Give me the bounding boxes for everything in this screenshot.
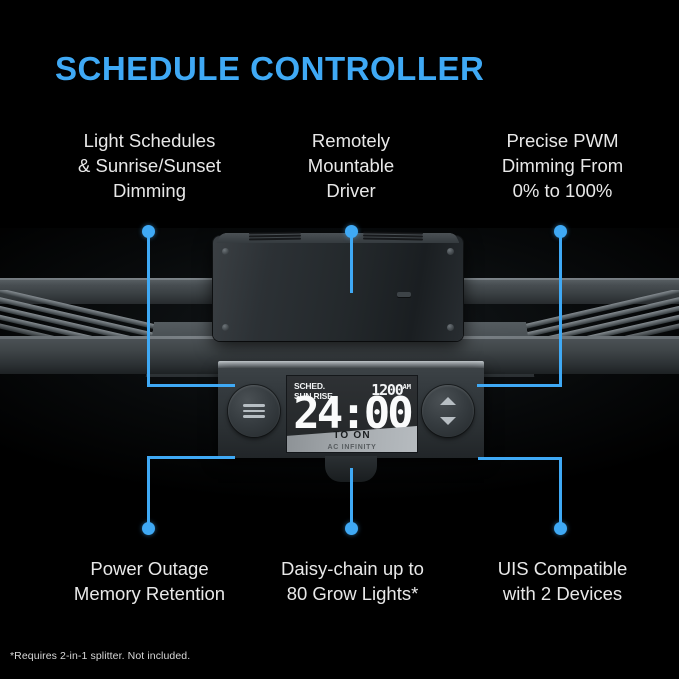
lcd-brand-label: AC INFINITY [287,444,417,451]
chevron-up-icon[interactable] [440,397,456,405]
caption-line: UIS Compatible [460,556,665,581]
callout-line-h [477,384,562,387]
caption-line: Dimming [22,178,277,203]
caption-line: Memory Retention [22,581,277,606]
caption-line: Power Outage [22,556,277,581]
controller-faceplate: SCHED. SUN RISE 1200AM 24:00 TO ON AC IN… [218,368,484,458]
feature-caption-uis-compatible: UIS Compatible with 2 Devices [460,556,665,606]
screw-icon [447,324,454,331]
callout-line-v [147,231,150,387]
callout-line-h [147,384,235,387]
product-photo: SCHED. SUN RISE 1200AM 24:00 TO ON AC IN… [0,228,679,518]
caption-line: Driver [262,178,440,203]
lcd-display: SCHED. SUN RISE 1200AM 24:00 TO ON AC IN… [286,375,418,453]
page-title: SCHEDULE CONTROLLER [55,50,484,88]
menu-icon [243,404,265,418]
feature-caption-pwm-dimming: Precise PWM Dimming From 0% to 100% [455,128,670,203]
remote-driver-box [213,236,463,341]
caption-line: Dimming From [455,153,670,178]
caption-line: Daisy-chain up to [255,556,450,581]
footnote: *Requires 2-in-1 splitter. Not included. [10,650,190,662]
callout-line-h [147,456,235,459]
caption-line: Remotely [262,128,440,153]
screw-icon [222,324,229,331]
callout-line-v [350,468,353,528]
product-feature-graphic: SCHEDULE CONTROLLER [0,0,679,679]
screw-icon [447,248,454,255]
feature-caption-memory-retention: Power Outage Memory Retention [22,556,277,606]
lcd-state-label: TO ON [287,430,417,441]
callout-line-h [478,457,562,460]
callout-line-v [147,456,150,528]
caption-line: with 2 Devices [460,581,665,606]
caption-line: Precise PWM [455,128,670,153]
feature-caption-light-schedules: Light Schedules & Sunrise/Sunset Dimming [22,128,277,203]
up-down-button[interactable] [422,385,474,437]
callout-line-v [559,457,562,528]
chevron-down-icon[interactable] [440,417,456,425]
caption-line: 0% to 100% [455,178,670,203]
caption-line: Mountable [262,153,440,178]
caption-line: 80 Grow Lights* [255,581,450,606]
caption-line: & Sunrise/Sunset [22,153,277,178]
caption-line: Light Schedules [22,128,277,153]
screw-icon [222,248,229,255]
callout-line-v [350,231,353,293]
menu-button[interactable] [228,385,280,437]
feature-caption-daisy-chain: Daisy-chain up to 80 Grow Lights* [255,556,450,606]
callout-line-v [559,231,562,387]
feature-caption-remote-driver: Remotely Mountable Driver [262,128,440,203]
driver-port [397,292,411,297]
